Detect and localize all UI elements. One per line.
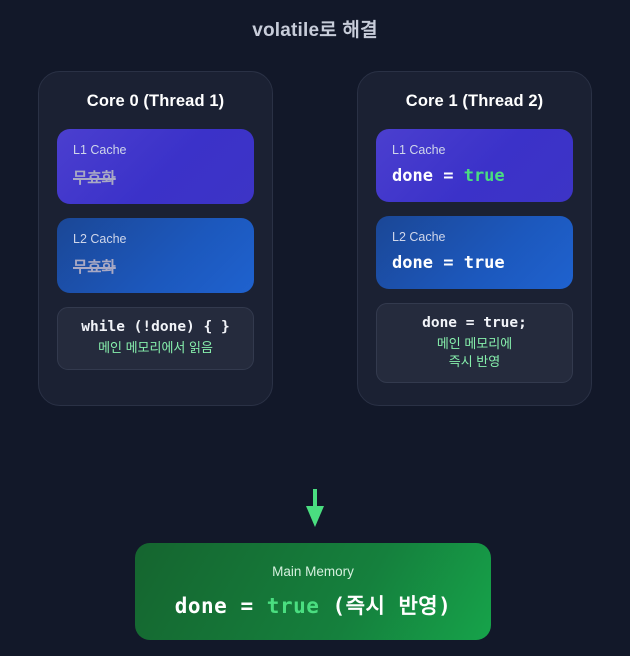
l2-cache-box-core0: L2 Cache 무효화 <box>57 218 254 293</box>
main-memory-value: done = true (즉시 반영) <box>175 590 452 620</box>
code-note-line-2: 즉시 반영 <box>387 353 562 371</box>
l1-cache-literal: true <box>464 166 505 186</box>
l1-cache-label: L1 Cache <box>392 143 557 157</box>
l1-cache-box-core0: L1 Cache 무효화 <box>57 129 254 204</box>
code-note: 메인 메모리에 즉시 반영 <box>387 335 562 370</box>
core-title: Core 1 (Thread 2) <box>376 92 573 111</box>
code-box-core0: while (!done) { } 메인 메모리에서 읽음 <box>57 307 254 370</box>
l2-cache-op: = <box>443 253 453 273</box>
page-title: volatile로 해결 <box>0 15 630 42</box>
l1-cache-op: = <box>443 166 453 186</box>
main-memory-op: = <box>240 594 253 618</box>
l2-cache-literal: true <box>464 253 505 273</box>
l1-cache-value: 무효화 <box>73 166 238 188</box>
core-card-0: Core 0 (Thread 1) L1 Cache 무효화 L2 Cache … <box>38 71 273 406</box>
l2-cache-var: done <box>392 253 433 273</box>
l2-cache-value: 무효화 <box>73 255 238 277</box>
code-box-core1: done = true; 메인 메모리에 즉시 반영 <box>376 303 573 383</box>
l2-cache-box-core1: L2 Cache done = true <box>376 216 573 289</box>
main-memory-box: Main Memory done = true (즉시 반영) <box>135 543 491 640</box>
l2-cache-value: done = true <box>392 253 557 273</box>
down-arrow-icon <box>303 489 327 527</box>
l2-cache-label: L2 Cache <box>392 230 557 244</box>
code-line: while (!done) { } <box>68 319 243 335</box>
flow-arrow-container <box>0 489 630 527</box>
l1-cache-box-core1: L1 Cache done = true <box>376 129 573 202</box>
core-cards-container: Core 0 (Thread 1) L1 Cache 무효화 L2 Cache … <box>38 71 592 406</box>
code-note: 메인 메모리에서 읽음 <box>68 339 243 357</box>
main-memory-suffix: (즉시 반영) <box>333 594 452 618</box>
l2-cache-label: L2 Cache <box>73 232 238 246</box>
core-title: Core 0 (Thread 1) <box>57 92 254 111</box>
main-memory-literal: true <box>267 594 320 618</box>
main-memory-var: done <box>175 594 228 618</box>
l1-cache-label: L1 Cache <box>73 143 238 157</box>
code-note-line-1: 메인 메모리에 <box>387 335 562 353</box>
l1-cache-value: done = true <box>392 166 557 186</box>
l1-cache-var: done <box>392 166 433 186</box>
code-line: done = true; <box>387 315 562 331</box>
core-card-1: Core 1 (Thread 2) L1 Cache done = true L… <box>357 71 592 406</box>
main-memory-label: Main Memory <box>272 564 354 579</box>
